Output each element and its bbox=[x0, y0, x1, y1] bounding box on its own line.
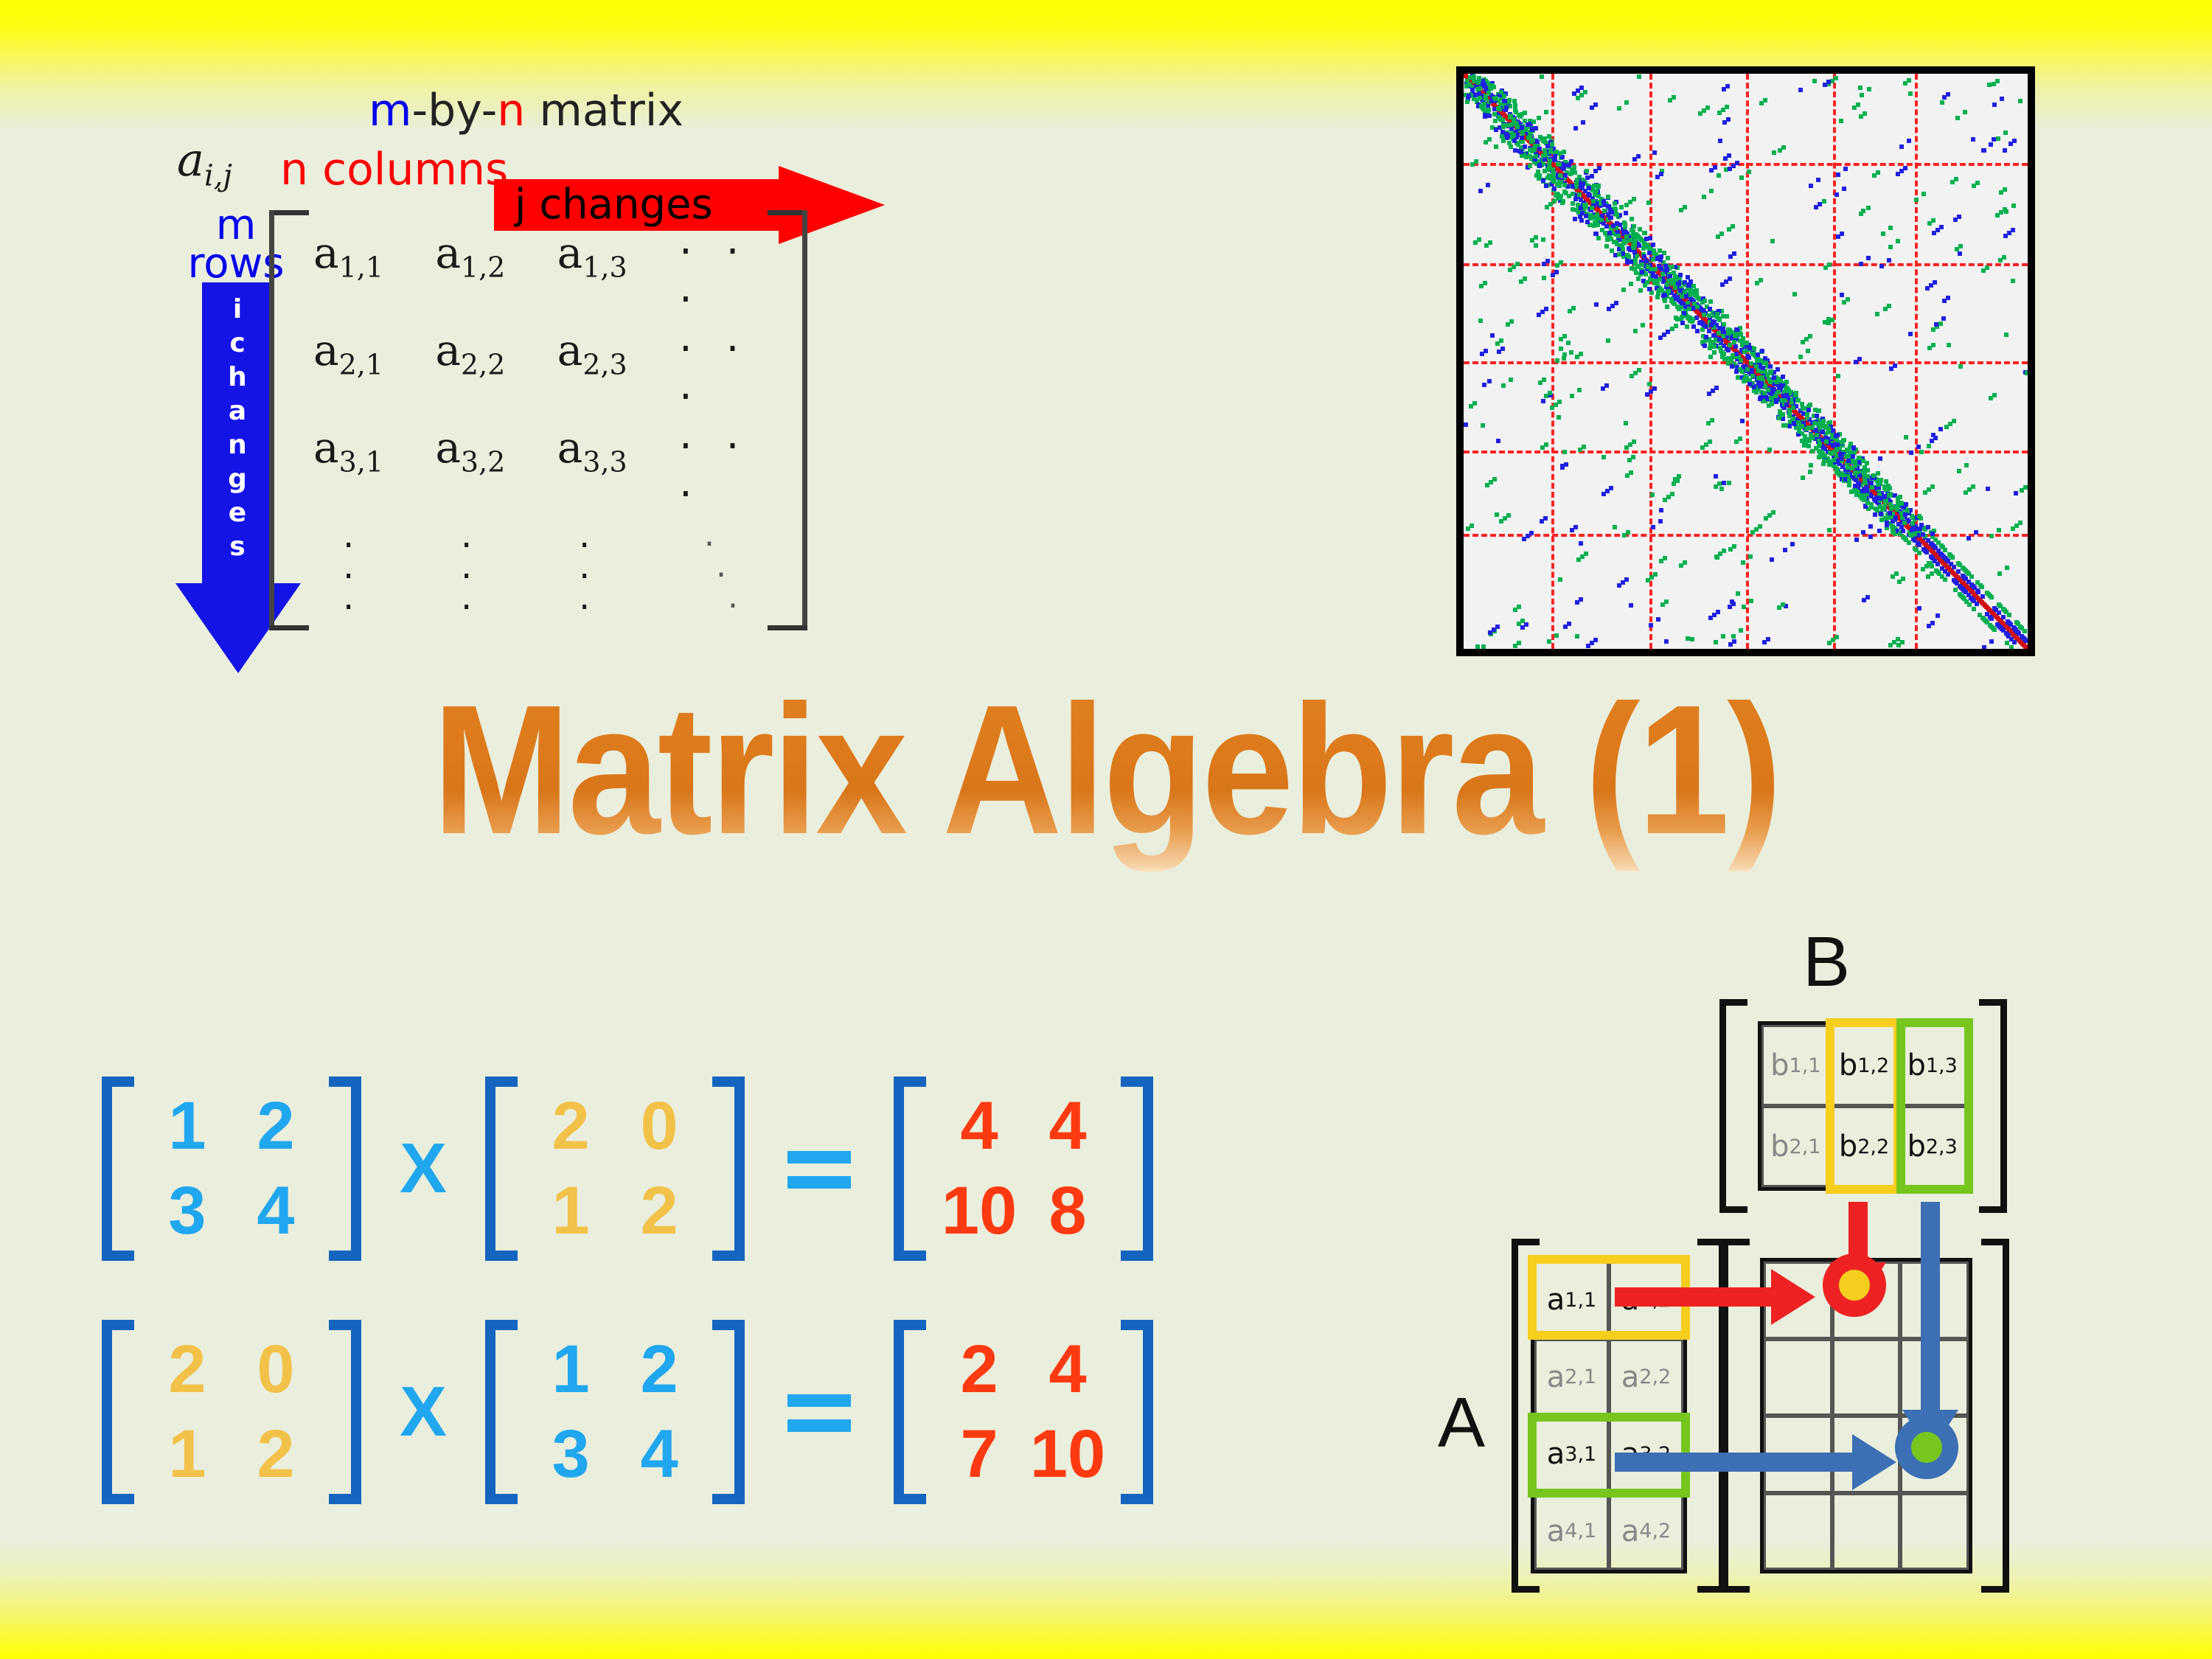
matrix-values-row: 24 bbox=[935, 1327, 1112, 1412]
spy-dot bbox=[1857, 357, 1862, 361]
spy-dot bbox=[1609, 486, 1613, 490]
spy-dot bbox=[1745, 341, 1749, 345]
spy-dot bbox=[1579, 541, 1583, 546]
spy-dot bbox=[1631, 455, 1635, 459]
spy-dot bbox=[1585, 175, 1590, 180]
spy-dot bbox=[1517, 605, 1521, 609]
spy-dot bbox=[1558, 173, 1562, 178]
spy-dot bbox=[1856, 102, 1860, 107]
spy-dot bbox=[1835, 442, 1840, 447]
spy-dot bbox=[1695, 329, 1700, 333]
matrix-bracket-left bbox=[269, 210, 309, 630]
matrix-values-row: 108 bbox=[935, 1169, 1112, 1253]
spy-dot bbox=[1646, 201, 1651, 205]
spy-dot bbox=[1739, 175, 1744, 180]
spy-dot bbox=[1636, 276, 1641, 281]
spy-dot bbox=[1823, 453, 1827, 458]
spy-dot bbox=[1787, 389, 1791, 393]
spy-dot bbox=[1917, 551, 1921, 555]
spy-dot bbox=[1554, 270, 1559, 274]
spy-dot bbox=[1826, 426, 1831, 431]
spy-dot bbox=[1954, 177, 1958, 181]
spy-dot bbox=[1597, 166, 1601, 170]
spy-dot bbox=[1719, 487, 1724, 491]
spy-dot bbox=[1652, 386, 1657, 391]
matrix-c-cell-2-2 bbox=[1832, 1339, 1901, 1416]
spy-dot bbox=[1774, 400, 1778, 404]
spy-dot bbox=[1989, 616, 1994, 621]
spy-dot bbox=[1702, 195, 1706, 199]
spy-dot bbox=[1879, 518, 1884, 522]
spy-dot bbox=[1529, 531, 1534, 535]
spy-dot bbox=[1704, 335, 1708, 339]
spy-dot bbox=[1985, 265, 1989, 270]
spy-dot bbox=[1503, 99, 1507, 103]
spy-dot bbox=[1641, 323, 1645, 327]
spy-dot bbox=[1470, 524, 1474, 528]
spy-dot bbox=[1548, 147, 1553, 152]
spy-dot bbox=[1649, 291, 1654, 295]
spy-dot bbox=[1919, 450, 1924, 454]
spy-dot bbox=[1879, 512, 1883, 516]
spy-dot bbox=[1611, 223, 1615, 228]
spy-dot bbox=[1935, 613, 1940, 618]
matrix-c-cell-4-3 bbox=[1900, 1493, 1969, 1571]
spy-dot bbox=[1590, 174, 1594, 178]
matrix-c-cell-4-2 bbox=[1832, 1493, 1901, 1571]
matrix-values-row: 34 bbox=[526, 1412, 703, 1497]
spy-dot bbox=[1464, 422, 1468, 427]
spy-dot bbox=[2018, 99, 2023, 103]
matrix-b-cell-2-1: b2,1 bbox=[1761, 1106, 1830, 1187]
spy-dot bbox=[1921, 192, 1926, 196]
spy-dot bbox=[1808, 334, 1812, 338]
spy-dot bbox=[1750, 374, 1755, 378]
spy-dot bbox=[1928, 561, 1933, 566]
spy-dot bbox=[1896, 496, 1900, 501]
spy-dot bbox=[1488, 240, 1492, 245]
spy-dot bbox=[1506, 513, 1511, 518]
matrix-values-row: 12 bbox=[143, 1412, 320, 1497]
spy-dot bbox=[1564, 462, 1568, 467]
matrix-values-grid: 2012 bbox=[134, 1327, 329, 1497]
i-changes-letter-3: a bbox=[202, 394, 273, 428]
spy-dot bbox=[1742, 349, 1747, 354]
spy-dot bbox=[1649, 623, 1653, 627]
spy-dot bbox=[2025, 371, 2028, 375]
spy-dot bbox=[1688, 319, 1692, 323]
spy-dot bbox=[1840, 293, 1844, 297]
spy-dot bbox=[1919, 516, 1923, 521]
generic-matrix-cell-2-2: a2,2 bbox=[435, 325, 557, 381]
spy-dot bbox=[1477, 237, 1481, 242]
spy-dot bbox=[1638, 227, 1642, 232]
spy-dot bbox=[1810, 449, 1815, 453]
spy-dot bbox=[1969, 574, 1974, 579]
spy-dot bbox=[1487, 114, 1492, 118]
spy-dot bbox=[1571, 207, 1575, 212]
spy-dot bbox=[1528, 147, 1532, 152]
spy-dot bbox=[1839, 456, 1843, 461]
spy-dot bbox=[1733, 344, 1738, 349]
spy-dot bbox=[1648, 236, 1652, 240]
spy-dot bbox=[1930, 484, 1935, 489]
spy-dot bbox=[1496, 439, 1500, 443]
spy-dot bbox=[1630, 217, 1634, 221]
spy-dot bbox=[1992, 393, 1997, 397]
matrix-c-cell-4-1 bbox=[1764, 1493, 1832, 1571]
spy-dot bbox=[1908, 91, 1913, 96]
spy-dot bbox=[1887, 258, 1891, 262]
spy-dot bbox=[1553, 154, 1557, 159]
spy-dot bbox=[1643, 243, 1647, 247]
spy-dot bbox=[1675, 479, 1680, 483]
spy-dot bbox=[1741, 560, 1745, 565]
spy-dot bbox=[1504, 132, 1509, 136]
spy-dot bbox=[1888, 245, 1893, 249]
spy-dot bbox=[1874, 495, 1879, 500]
spy-dot bbox=[1834, 635, 1839, 639]
spy-dot bbox=[1606, 195, 1610, 199]
generic-matrix-cell-3-3: a3,3 bbox=[557, 422, 679, 479]
spy-dot bbox=[1750, 368, 1754, 372]
spy-dot bbox=[1670, 492, 1674, 496]
spy-dot bbox=[1952, 419, 1956, 423]
spy-dot bbox=[1861, 209, 1865, 213]
spy-dot bbox=[1930, 571, 1934, 576]
spy-dot bbox=[1585, 220, 1590, 224]
spy-dot bbox=[1716, 610, 1720, 614]
matrix-a-cell-3-1: a3,1 bbox=[1534, 1416, 1609, 1493]
spy-dot bbox=[1714, 386, 1719, 390]
spy-dot bbox=[1608, 208, 1613, 212]
slide-canvas: m-by-n matrix ai,j n columns m rows j ch… bbox=[0, 0, 2212, 1659]
spy-dot bbox=[1719, 232, 1724, 236]
spy-dot bbox=[1812, 79, 1817, 83]
spy-dot bbox=[1582, 445, 1586, 449]
spy-dot bbox=[1824, 439, 1829, 444]
spy-dot bbox=[1544, 442, 1548, 447]
spy-dot bbox=[1769, 396, 1773, 400]
spy-dot bbox=[1631, 244, 1635, 248]
spy-dot bbox=[1876, 482, 1880, 487]
generic-matrix-cell-3-2: a3,2 bbox=[435, 422, 557, 479]
spy-dot bbox=[1816, 178, 1820, 182]
spy-dot bbox=[1570, 394, 1574, 398]
spy-partition-hline-3 bbox=[1464, 451, 2028, 453]
generic-matrix-row: a1,1a1,2a1,3· · · bbox=[313, 228, 771, 325]
spy-dot bbox=[1550, 142, 1554, 147]
spy-dot bbox=[1617, 252, 1621, 257]
spy-dot bbox=[1713, 165, 1717, 170]
matrix-value-1-1: 2 bbox=[526, 1088, 615, 1165]
spy-dot bbox=[1736, 591, 1740, 596]
spy-dot bbox=[1637, 74, 1641, 79]
spy-dot bbox=[1805, 415, 1809, 420]
matrix-b-cell-1-3: b1,3 bbox=[1898, 1025, 1966, 1106]
spy-dot bbox=[1712, 344, 1717, 349]
spy-dot bbox=[1877, 529, 1882, 533]
spy-dot bbox=[1761, 366, 1765, 370]
spy-dot bbox=[1658, 258, 1663, 262]
matrix-bracket-right bbox=[1121, 1077, 1153, 1261]
spy-dot bbox=[1992, 137, 1996, 142]
spy-dot bbox=[1666, 256, 1670, 260]
matrix-b-block: b1,1b1,2b1,3b2,1b2,2b2,3 bbox=[1719, 999, 2007, 1213]
spy-dot bbox=[1730, 364, 1734, 369]
spy-dot bbox=[1512, 99, 1517, 103]
n-columns-label: n columns bbox=[280, 144, 508, 195]
matrix-value-1-1: 4 bbox=[935, 1088, 1023, 1165]
spy-dot bbox=[1738, 437, 1742, 441]
spy-dot bbox=[1842, 187, 1846, 191]
matrix-a-cell-1-1: a1,1 bbox=[1534, 1262, 1609, 1339]
spy-dot bbox=[1739, 358, 1743, 363]
matrix-bracket-left bbox=[102, 1320, 134, 1504]
spy-dot bbox=[1846, 297, 1850, 302]
matrix-a-cell-2-1: a2,1 bbox=[1534, 1339, 1609, 1416]
spy-dot bbox=[1619, 205, 1624, 209]
spy-dot bbox=[1592, 184, 1596, 188]
spy-dot bbox=[1854, 538, 1859, 542]
n-token: n bbox=[497, 85, 525, 136]
spy-dot bbox=[1637, 368, 1641, 372]
spy-dot bbox=[1770, 557, 1774, 562]
spy-dot bbox=[1537, 116, 1541, 120]
spy-dot bbox=[1467, 83, 1472, 87]
spy-dot bbox=[1540, 74, 1544, 79]
spy-dot bbox=[1926, 525, 1930, 529]
spy-dot bbox=[1625, 260, 1630, 265]
spy-dot bbox=[1478, 189, 1483, 193]
spy-dot bbox=[1858, 86, 1863, 90]
spy-dot bbox=[1694, 290, 1699, 294]
spy-dot bbox=[1596, 236, 1601, 240]
i-changes-label: ichanges bbox=[202, 293, 273, 564]
spy-dot bbox=[2000, 97, 2004, 101]
spy-dot bbox=[1709, 323, 1714, 327]
spy-dot bbox=[1562, 356, 1566, 361]
spy-dot bbox=[1815, 414, 1819, 418]
spy-dot bbox=[1787, 414, 1792, 418]
spy-dot bbox=[2004, 209, 2008, 214]
spy-dot bbox=[1918, 526, 1922, 531]
spy-dot bbox=[1715, 312, 1719, 316]
matrix-value-1-2: 2 bbox=[615, 1331, 703, 1408]
matrix-values-grid: 1234 bbox=[518, 1327, 712, 1497]
matrix-value-2-1: 3 bbox=[526, 1416, 615, 1493]
spy-dot bbox=[1486, 108, 1491, 112]
i-changes-letter-6: e bbox=[202, 496, 273, 530]
spy-dot bbox=[1653, 572, 1658, 577]
spy-dot bbox=[1767, 403, 1771, 408]
spy-dot bbox=[1708, 307, 1712, 311]
spy-dot bbox=[1509, 114, 1513, 118]
spy-dot bbox=[1615, 212, 1619, 217]
spy-dot bbox=[1528, 135, 1532, 139]
matrix-values-grid: 2012 bbox=[518, 1084, 712, 1253]
spy-dot bbox=[1938, 427, 1943, 431]
spy-dot bbox=[1567, 622, 1571, 626]
spy-dot bbox=[1573, 525, 1578, 529]
spy-dot bbox=[1866, 256, 1871, 260]
spy-partition-vline-3 bbox=[1833, 74, 1836, 649]
spy-dot bbox=[1501, 139, 1506, 143]
spy-dot bbox=[1520, 125, 1524, 130]
equation-row-1: 1234X201244108 bbox=[88, 1077, 1166, 1261]
spy-dot bbox=[1534, 154, 1538, 159]
spy-dot bbox=[1494, 128, 1498, 132]
spy-dot bbox=[1593, 232, 1598, 236]
matrix-values-grid: 24710 bbox=[926, 1327, 1121, 1497]
spy-dot bbox=[1606, 338, 1610, 343]
spy-dot bbox=[1568, 172, 1573, 176]
spy-dot bbox=[1792, 292, 1797, 296]
generic-matrix-row: a3,1a3,2a3,3· · · bbox=[313, 422, 771, 520]
spy-dot bbox=[1691, 284, 1696, 288]
spy-dot bbox=[1754, 364, 1759, 369]
spy-dot bbox=[1705, 105, 1710, 110]
spy-dot bbox=[1957, 469, 1961, 473]
spy-dot bbox=[1651, 243, 1655, 247]
spy-dot bbox=[1714, 640, 1718, 644]
spy-dot bbox=[1749, 599, 1753, 603]
spy-dot bbox=[1876, 471, 1880, 476]
spy-dot bbox=[1710, 418, 1714, 422]
spy-dot bbox=[1931, 343, 1935, 347]
matrix-multiply-diagram: B A b1,1b1,2b1,3b2,1b2,2b2,3 a1,1a1,2a2,… bbox=[1430, 944, 2190, 1600]
spy-dot bbox=[1683, 560, 1687, 565]
spy-dot bbox=[1992, 102, 1997, 107]
spy-dot bbox=[2004, 333, 2008, 337]
spy-dot bbox=[1933, 280, 1937, 285]
spy-dot bbox=[1680, 294, 1684, 299]
spy-dot bbox=[1851, 454, 1855, 459]
spy-dot bbox=[1771, 510, 1775, 515]
spy-dot bbox=[1687, 307, 1691, 311]
spy-dot bbox=[1796, 420, 1801, 425]
spy-dot bbox=[1621, 247, 1625, 251]
generic-matrix-cells: a1,1a1,2a1,3· · ·a2,1a2,2a2,3· · ·a3,1a3… bbox=[313, 228, 771, 630]
spy-dot bbox=[1857, 483, 1861, 487]
spy-dot bbox=[1547, 134, 1551, 139]
generic-matrix-vdots-3: ... bbox=[549, 520, 667, 613]
spy-dot bbox=[1893, 364, 1897, 368]
spy-dot bbox=[1686, 283, 1691, 288]
spy-dot bbox=[1545, 259, 1550, 263]
spy-dot bbox=[1600, 214, 1604, 218]
spy-dot bbox=[1907, 540, 1911, 545]
spy-dot bbox=[1501, 123, 1506, 128]
spy-dot bbox=[1534, 235, 1538, 240]
spy-dot bbox=[1473, 93, 1478, 97]
spy-dot bbox=[1860, 489, 1865, 493]
spy-dot bbox=[1577, 388, 1582, 392]
spy-dot bbox=[1562, 450, 1567, 454]
spy-dot bbox=[2003, 131, 2008, 135]
spy-dot bbox=[1514, 121, 1518, 125]
matrix-value-1-2: 4 bbox=[1023, 1331, 1112, 1408]
spy-dot bbox=[1584, 205, 1588, 209]
matrix-values-grid: 1234 bbox=[134, 1084, 329, 1253]
spy-dot bbox=[1887, 493, 1891, 497]
spy-dot bbox=[1902, 521, 1907, 525]
generic-matrix-vdots-row: ............ bbox=[313, 520, 771, 630]
spy-dot bbox=[1478, 319, 1483, 323]
spy-dot bbox=[1903, 512, 1907, 517]
spy-dot bbox=[1633, 329, 1638, 333]
spy-dot bbox=[1726, 331, 1731, 335]
spy-dot bbox=[1825, 459, 1829, 463]
generic-matrix-cell-2-3: a2,3 bbox=[557, 325, 679, 381]
spy-dot bbox=[1742, 605, 1746, 609]
spy-dot bbox=[1781, 602, 1785, 607]
spy-dot bbox=[1571, 201, 1575, 206]
spy-dot bbox=[1752, 347, 1756, 351]
spy-dot bbox=[1826, 80, 1831, 84]
generic-matrix-vdots-2: ... bbox=[431, 520, 549, 613]
spy-dot bbox=[1657, 288, 1661, 293]
spy-dot bbox=[1624, 234, 1629, 239]
matrix-values-row: 20 bbox=[526, 1084, 703, 1169]
spy-dot bbox=[1822, 199, 1826, 204]
spy-dot bbox=[1621, 251, 1625, 256]
matrix-b-label: B bbox=[1803, 922, 1850, 1003]
spy-dot bbox=[1626, 530, 1630, 535]
spy-dot bbox=[1573, 126, 1578, 131]
spy-dot bbox=[1975, 181, 1980, 185]
matrix-a-cell-4-1: a4,1 bbox=[1534, 1493, 1609, 1571]
spy-dot bbox=[1513, 108, 1517, 112]
spy-dot bbox=[1496, 106, 1500, 111]
spy-dot bbox=[1731, 353, 1735, 358]
spy-dot bbox=[1852, 459, 1857, 464]
number-matrix: 44108 bbox=[880, 1077, 1166, 1261]
spy-dot bbox=[1853, 464, 1857, 468]
matrix-value-1-2: 0 bbox=[615, 1088, 703, 1165]
spy-dot bbox=[1989, 534, 1994, 538]
spy-dot bbox=[1703, 299, 1707, 303]
i-changes-letter-2: h bbox=[202, 361, 273, 394]
spy-dot bbox=[1727, 153, 1731, 158]
spy-dot bbox=[1809, 463, 1813, 467]
spy-dot bbox=[1784, 393, 1789, 397]
spy-dot bbox=[1891, 519, 1895, 524]
spy-dot bbox=[1801, 476, 1805, 480]
spy-dot bbox=[1623, 223, 1627, 227]
spy-dot bbox=[1617, 106, 1621, 111]
spy-dot bbox=[1509, 122, 1514, 127]
spy-dot bbox=[1832, 458, 1836, 462]
i-changes-letter-1: c bbox=[202, 327, 273, 361]
spy-dot bbox=[1520, 131, 1525, 136]
spy-dot bbox=[1763, 98, 1767, 102]
spy-dot bbox=[1571, 306, 1576, 310]
spy-dot bbox=[1495, 625, 1500, 629]
spy-dot bbox=[1596, 217, 1601, 221]
spy-dot bbox=[1574, 182, 1579, 187]
spy-dot bbox=[1722, 481, 1726, 485]
spy-dot bbox=[1556, 196, 1560, 201]
spy-dot bbox=[1857, 456, 1861, 460]
matrix-a-cell-2-2: a2,2 bbox=[1609, 1339, 1683, 1416]
matrix-bracket-left bbox=[894, 1077, 926, 1261]
spy-dot bbox=[1860, 93, 1864, 97]
spy-dot bbox=[1813, 408, 1818, 412]
spy-dot bbox=[1806, 349, 1810, 353]
matrix-b-cell-1-1: b1,1 bbox=[1761, 1025, 1830, 1106]
spy-dot bbox=[1544, 110, 1548, 114]
